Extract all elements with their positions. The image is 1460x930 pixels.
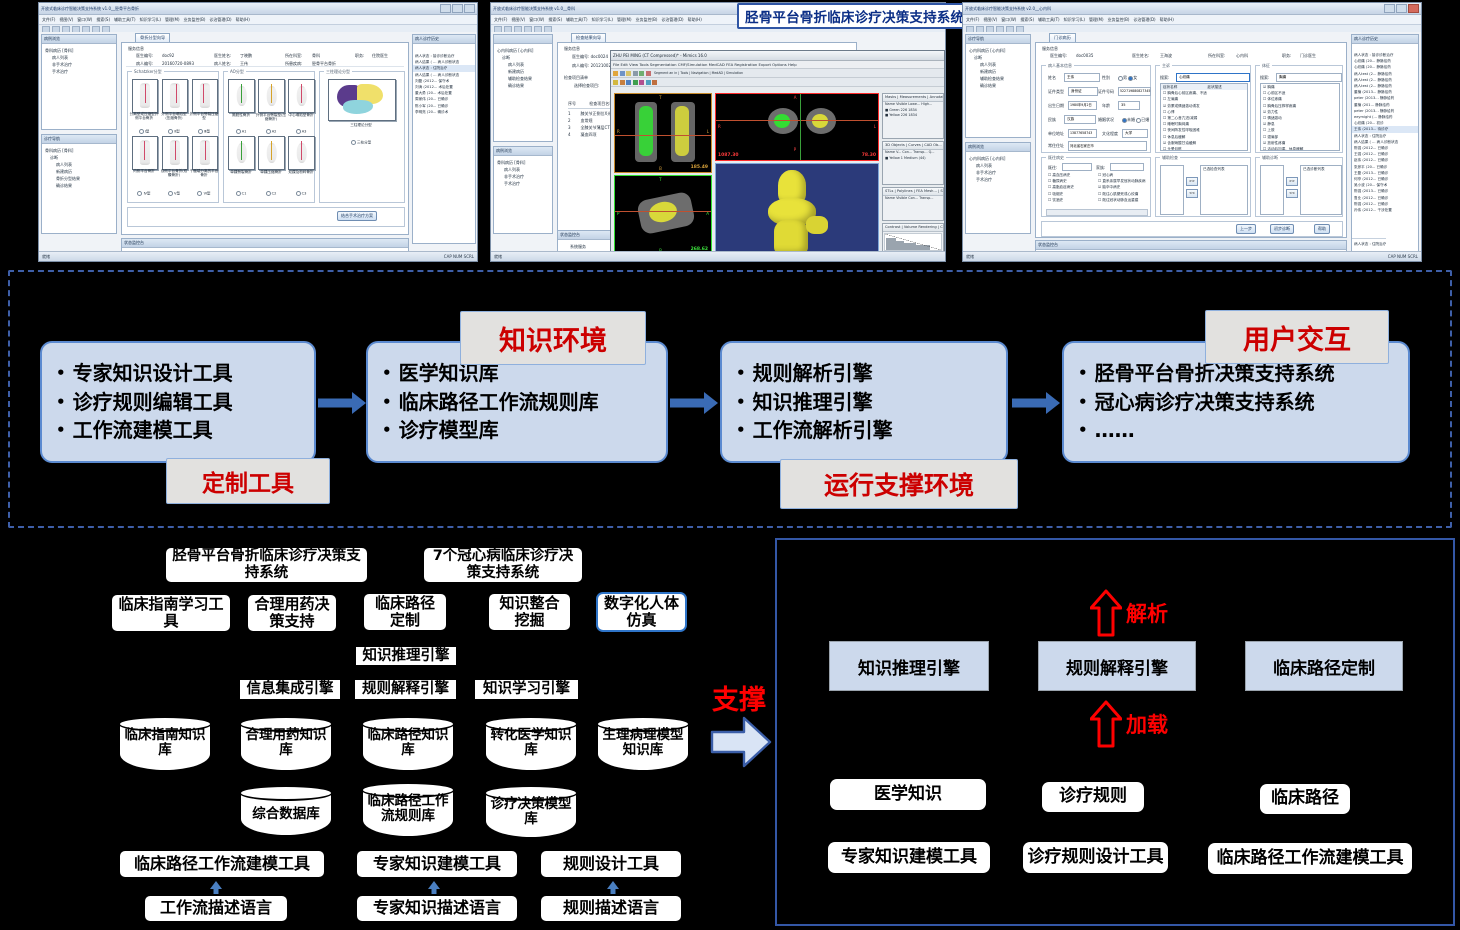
menu-item[interactable]: 辅助工具(T) (566, 17, 588, 23)
tab-fracture-classification[interactable]: 骨折分型向导 (135, 33, 170, 42)
main-title-banner: 胫骨平台骨折临床诊疗决策支持系统 (737, 3, 972, 29)
tree-node[interactable]: 非手术治疗 (494, 173, 552, 180)
db-label: 转化医学知识库 (484, 728, 578, 758)
menu-item[interactable]: 窗口(W) (529, 17, 544, 23)
radio-option[interactable]: A2 (255, 129, 287, 134)
arch-item: 诊疗模型库 (382, 416, 656, 444)
menu-item[interactable]: 视图(V) (59, 17, 73, 23)
radio-option[interactable]: C3 (285, 191, 317, 196)
id-number-input[interactable]: 522719880827345 (1118, 87, 1151, 96)
status-text: 就绪 (494, 254, 502, 259)
birthdate-input[interactable]: 1980年9月2日 (1068, 101, 1097, 110)
radio-icon[interactable] (351, 140, 356, 145)
ruler-icon[interactable] (620, 71, 625, 76)
panel-tabs[interactable]: Contrast | Volume Rendering | Clipping (883, 224, 943, 232)
radio-option[interactable]: 三柱分型 (328, 140, 394, 145)
tree-node[interactable]: 病人列表 (494, 61, 552, 68)
axial-viewport[interactable]: A R L P 1087.30 78.30 (715, 93, 879, 161)
history-row[interactable]: 李明亮 (20... 确诊术 (413, 109, 475, 115)
menu-item[interactable]: 诊治管理(D) (209, 17, 231, 23)
signs-search-input[interactable]: 胸痛 (1276, 73, 1342, 82)
list-item[interactable]: ☐ 头晕目眩 (1161, 146, 1247, 151)
radio-icon[interactable] (197, 191, 202, 196)
mask-row-yellow[interactable]: ■ Yellow 226 1834 (883, 113, 943, 119)
knowledge-box-diagnosis-rules[interactable]: 诊疗规则 (1042, 782, 1144, 812)
pointer-icon[interactable] (613, 71, 618, 76)
past-history-scrollbar[interactable] (1046, 209, 1148, 216)
tree-node[interactable]: 病人列表 (966, 61, 1030, 68)
radio-option[interactable]: A1 (225, 129, 257, 134)
radio-icon[interactable] (266, 191, 271, 196)
tree-node[interactable]: 确诊结果 (42, 182, 116, 189)
orient-L: L (874, 124, 876, 129)
modeling-tool-expert-knowledge[interactable]: 专家知识建模工具 (355, 849, 519, 879)
help-button[interactable]: 帮助 (1314, 224, 1330, 234)
fracture-thumbnail[interactable] (228, 136, 255, 170)
menu-item[interactable]: 管理(M) (165, 17, 180, 23)
id-type-input[interactable]: 身份证 (1068, 87, 1098, 96)
radio-option[interactable]: C1 (225, 191, 257, 196)
engine-knowledge-reasoning[interactable]: 知识推理引擎 (829, 641, 989, 691)
engine-box-rule-interpretation[interactable]: 规则解释引擎 (353, 678, 458, 701)
residence-label: 常住住址 (1048, 143, 1064, 149)
tool-box-knowledge-mining[interactable]: 知识整合挖掘 (487, 592, 572, 632)
menu-item[interactable]: 文件(F) (42, 17, 55, 23)
menu-item[interactable]: 业务监控(B) (1108, 17, 1130, 23)
db-physio-patho-model[interactable]: 生理病理模型知识库 (596, 716, 690, 772)
menu-item[interactable]: 知识学习(L) (592, 17, 613, 23)
group-label: Schatzker分型 (132, 69, 164, 75)
past-history-right-list[interactable]: ☐ 冠心病 ☐ 直系亲属早发冠状动脉疾病 ☑ 脑卒中病史 ☐ 既往心肌梗死或心绞… (1096, 172, 1148, 206)
menu-item[interactable]: 视图(V) (511, 17, 525, 23)
residence-input[interactable]: 河北省石家庄市 (1068, 141, 1147, 151)
marital-radios[interactable]: 未婚 已婚 (1122, 117, 1149, 123)
radio-option[interactable]: Ⅵ型 (189, 191, 219, 196)
radio-icon[interactable] (168, 129, 173, 134)
tool-box-rational-drug[interactable]: 合理用药决策支持 (246, 593, 338, 633)
arch-item: 规则解析引擎 (736, 359, 996, 387)
fracture-thumbnail[interactable] (192, 136, 218, 170)
radio-icon[interactable] (1118, 76, 1123, 81)
calc-3d-icon[interactable] (639, 80, 644, 85)
language-box-expert-knowledge[interactable]: 专家知识描述语言 (355, 894, 519, 923)
panel-tabs[interactable]: 3D Objects | Curves | CAD Ob... | Soft T… (883, 142, 943, 150)
history-footer: 病人状态 : 住院治疗 (1352, 238, 1386, 247)
case-browser-panel[interactable]: 病例浏览 骨科病历 [骨科] 病人列表 非手术治疗 手术治疗 (493, 146, 553, 234)
folder-icon[interactable] (626, 71, 631, 76)
radio-icon-selected[interactable] (1122, 118, 1127, 123)
tool-box-expert-knowledge-modeling[interactable]: 专家知识建模工具 (828, 842, 990, 873)
tree-root[interactable]: 心内科病历 [心内科] (494, 47, 552, 54)
panel-tabs[interactable]: STLs | Polylines | FEA Mesh... | Simulat… (883, 188, 943, 196)
menu-item[interactable]: 文件(F) (966, 17, 979, 23)
diagnosis-remove-button[interactable]: << (1286, 189, 1298, 198)
patient-name-input[interactable]: 王伟 (1064, 73, 1100, 82)
panel-header: 病例浏览 (966, 143, 1030, 152)
menu-item[interactable]: 搜索(S) (1020, 17, 1034, 23)
window-buttons[interactable] (440, 4, 475, 13)
radio-icon[interactable] (168, 191, 173, 196)
field-label: 医生编号: (572, 54, 589, 59)
field-label: 职务: (1282, 53, 1291, 59)
radio-option[interactable]: Ⅰ型 (128, 129, 160, 134)
panel-tabs[interactable]: Masks | Measurements | Annotations (883, 94, 943, 102)
db-clinical-pathway[interactable]: 临床路径知识库 (361, 716, 455, 772)
tree-node[interactable]: 新建病历 (966, 68, 1030, 75)
close-icon[interactable] (1408, 4, 1419, 13)
tree-node[interactable]: 病人列表 (966, 162, 1030, 169)
tree-node[interactable]: 辅助检查结果 (966, 75, 1030, 82)
radio-icon[interactable] (296, 129, 301, 134)
panel-columns: Name V... Con... Transp... Q... (883, 150, 943, 156)
exam-add-button[interactable]: >> (1186, 177, 1198, 186)
threshold-icon[interactable] (620, 80, 625, 85)
radio-option[interactable]: Ⅴ型 (159, 191, 189, 196)
panel-header (494, 35, 552, 44)
radio-option[interactable]: A3 (285, 129, 317, 134)
tree-root[interactable]: 骨科病历 [骨科] (42, 147, 116, 154)
panel-header: 状态监控台 (122, 239, 408, 248)
tree-node[interactable]: 手术治疗 (42, 68, 116, 75)
edit-mask-icon[interactable] (633, 80, 638, 85)
arch-item: 工作流解析引擎 (736, 416, 996, 444)
patient-history-panel[interactable]: 病人诊疗历史 病人状态 : 接诊诊断治疗 心绞痛 (20... 静脉给药 心绞痛… (1351, 34, 1419, 260)
panel-header: 病例浏览 (494, 147, 552, 156)
menu-item[interactable]: 视图(V) (983, 17, 997, 23)
load-label: 加载 (1126, 709, 1168, 739)
hu-max-value: 78.30 (862, 153, 876, 158)
age-input[interactable]: 35 (1118, 101, 1140, 110)
tree-root[interactable]: 骨科病历 [骨科] (494, 159, 552, 166)
3d-viewport[interactable] (715, 163, 879, 255)
arch-item: 诊疗规则编辑工具 (56, 388, 304, 416)
field-value: 心内科 (1236, 53, 1248, 59)
thumbnail-caption: 外侧平台劈裂压缩型 (189, 112, 219, 121)
menu-item[interactable]: 诊治管理(D) (661, 17, 683, 23)
tree-node[interactable]: 骨折分型结果 (42, 175, 116, 182)
window-title: 开放式临床诊疗智能决策支持系统 v2.0__心内科 (965, 6, 1051, 12)
radio-icon[interactable] (198, 129, 203, 134)
status-text: 就绪 (966, 254, 974, 259)
db-clinical-pathway-workflow-rules[interactable]: 临床路径工作流规则库 (361, 782, 455, 838)
arch-item: …… (1078, 416, 1398, 444)
system-box-coronary[interactable]: 7个冠心病临床诊疗决策支持系统 (422, 546, 584, 584)
patient-gender-radios[interactable]: 男 女 (1118, 75, 1137, 81)
menu-item[interactable]: 知识学习(L) (1064, 17, 1085, 23)
menu-item[interactable]: 搜索(S) (548, 17, 562, 23)
orient-P: P (794, 147, 796, 152)
system-box-tibial[interactable]: 胫骨平台骨折临床诊疗决策支持系统 (164, 546, 369, 584)
coronal-viewport[interactable]: T R L B 185.49 (614, 93, 712, 173)
db-clinical-guideline[interactable]: 临床指南知识库 (118, 716, 212, 772)
thumbnail-caption: 内侧平台骨折 (128, 169, 160, 173)
age-label: 年龄 (1102, 103, 1110, 109)
radio-option[interactable]: Ⅲ型 (189, 129, 219, 134)
object-row-yellow[interactable]: ■ Yellow 1 Medium (44) (883, 156, 943, 162)
menu-item[interactable]: 帮助(H) (236, 17, 250, 23)
menu-bar[interactable]: 文件(F) 视图(V) 窗口(W) 搜索(S) 辅助工具(T) 知识学习(L) … (39, 15, 477, 25)
orient-T: T (659, 177, 661, 182)
diagnosis-selected-list[interactable]: 已选诊断列表 (1300, 165, 1342, 215)
past-label: 既往: (1048, 165, 1057, 171)
fracture-thumbnail[interactable] (132, 79, 158, 113)
fracture-thumbnail[interactable] (288, 79, 315, 113)
case-browser-panel[interactable]: 病例浏览 心内科病历 [心内科] 病人列表 非手术治疗 手术治疗 (965, 142, 1031, 234)
list-item[interactable]: ☐ 活动后加重、休息缓解 (1261, 146, 1339, 151)
sagittal-viewport[interactable]: T P A B 268.62 (614, 175, 712, 255)
patient-history-panel[interactable]: 病人诊疗历史 病人状态 : 接诊诊断治疗 病人结果 ( ... 病人诊断状态 病… (412, 34, 476, 244)
menu-item[interactable]: 辅助工具(T) (114, 17, 136, 23)
masks-panel[interactable]: Masks | Measurements | Annotations Name … (882, 93, 944, 139)
crop-icon[interactable] (652, 80, 657, 85)
maximize-icon[interactable] (452, 4, 463, 13)
measure-icon[interactable] (646, 80, 651, 85)
thumbnail-caption: 分离型或压缩型外侧平台骨折 (128, 112, 160, 121)
fracture-thumbnail[interactable] (228, 79, 255, 113)
menu-item[interactable]: 知识学习(L) (140, 17, 161, 23)
tree-node[interactable]: 新建病历 (494, 68, 552, 75)
language-box-rule[interactable]: 规则描述语言 (539, 894, 683, 923)
tree-node[interactable]: 诊断 (42, 154, 116, 161)
diagnosis-navigation-panel[interactable]: 诊疗导航 骨科病历 [骨科] 诊断 病人列表 新建病历 骨折分型结果 确诊结果 (41, 134, 117, 234)
exam-selected-list[interactable]: 已选检查列表 (1200, 165, 1248, 215)
tree-node[interactable]: 诊断 (966, 54, 1030, 61)
radio-icon[interactable] (137, 191, 142, 196)
tool-box-clinical-guideline[interactable]: 临床指南学习工具 (110, 593, 232, 633)
region-grow-icon[interactable] (626, 80, 631, 85)
arch-box-runtime-support[interactable]: 规则解析引擎 知识推理引擎 工作流解析引擎 (720, 341, 1008, 463)
knowledge-box-clinical-pathway[interactable]: 临床路径 (1260, 784, 1350, 814)
field-label: 医生姓名: (1132, 53, 1149, 59)
complaint-search-input[interactable]: 心绞痛 (1176, 73, 1250, 82)
engine-rule-interpretation[interactable]: 规则解释引擎 (1038, 641, 1196, 691)
past-history-left-list[interactable]: ☐ 高血压病史 ☐ 糖尿病史 ☐ 高脂血症病史 ☐ 吸烟史 ☐ 饮酒史 (1046, 172, 1096, 206)
menu-item[interactable]: 窗口(W) (77, 17, 92, 23)
objects-panel[interactable]: 3D Objects | Curves | CAD Ob... | Soft T… (882, 141, 944, 185)
mask-icon[interactable] (613, 80, 618, 85)
menu-item[interactable]: 辅助工具(T) (1038, 17, 1060, 23)
language-box-workflow[interactable]: 工作流描述语言 (143, 894, 289, 923)
thumbnail-caption: 中心塌陷型骨折 (285, 113, 317, 117)
radio-option[interactable]: Ⅳ型 (128, 191, 160, 196)
db-comprehensive[interactable]: 综合数据库 (239, 785, 333, 837)
tree-root[interactable]: 心内科病历 [心内科] (966, 47, 1030, 54)
tool-box-clinical-pathway-custom[interactable]: 临床路径定制 (362, 592, 448, 632)
panel-header: 病例浏览 (42, 35, 116, 44)
screenshot-tibial-plateau[interactable]: 开放式临床诊疗智能决策支持系统 v1.0__胫骨平台骨折 文件(F) 视图(V)… (38, 2, 478, 262)
arch-item: 临床路径工作流规则库 (382, 388, 656, 416)
undo-icon[interactable] (639, 71, 644, 76)
address-input[interactable]: 13877658743 (1068, 129, 1097, 138)
radio-icon[interactable] (1136, 118, 1141, 123)
radio-option[interactable]: C2 (255, 191, 287, 196)
fracture-thumbnail[interactable] (258, 79, 285, 113)
previous-step-button[interactable]: 上一步 (1236, 224, 1256, 234)
radio-icon[interactable] (236, 129, 241, 134)
signs-list[interactable]: ☑ 胸痛 ☐ 心前区不适 ☐ 体位疼痛 ☐ 胸骨后压榨样疼痛 ☑ 劳力性 ☐ 情… (1260, 83, 1340, 151)
thumbnail-caption: 双踝及粉碎骨折 (285, 170, 317, 174)
orient-R: R (617, 129, 620, 134)
tree-node[interactable]: 非手术治疗 (966, 169, 1030, 176)
thumbnail-caption: 外侧平台塌陷型(压缩骨折) (159, 112, 189, 121)
db-rational-drug[interactable]: 合理用药知识库 (239, 716, 333, 772)
arch-item: 冠心病诊疗决策支持系统 (1078, 388, 1398, 416)
print-icon[interactable] (633, 71, 638, 76)
tree-node[interactable]: 病人列表 (494, 166, 552, 173)
three-column-diagram[interactable] (328, 79, 396, 121)
db-translational-medicine[interactable]: 转化医学知识库 (484, 716, 578, 772)
preliminary-diagnosis-button[interactable]: 初步诊断 (1270, 224, 1294, 234)
diagnosis-available-list[interactable] (1260, 165, 1284, 215)
tool-box-clinical-pathway-workflow-modeling[interactable]: 临床路径工作流建模工具 (1208, 843, 1412, 874)
knowledge-box-medical[interactable]: 医学知识 (830, 779, 986, 810)
db-label: 临床路径工作流规则库 (361, 794, 455, 824)
tool-box-digital-human-simulation[interactable]: 数字化人体仿真 (596, 592, 687, 632)
panel-columns: Name Visible Con... Transp... (883, 196, 943, 202)
engine-box-knowledge-learning[interactable]: 知识学习引擎 (473, 678, 580, 701)
tree-node[interactable]: 非手术治疗 (42, 61, 116, 68)
thumbnail-caption: 三柱理论分型 (328, 123, 394, 127)
signs-search-label: 搜索: (1260, 75, 1269, 81)
main-content: 服务信息 医生编号: doc0035 医生姓名: 王海波 所在科室: 心内科 职… (1035, 42, 1347, 238)
tree-node[interactable]: 病人列表 (42, 161, 116, 168)
patient-name-label: 姓名 (1048, 75, 1056, 81)
db-label: 综合数据库 (239, 807, 333, 822)
group-label: 辅助检查 (1160, 155, 1180, 161)
radio-icon-selected[interactable] (1128, 76, 1133, 81)
tree-root[interactable]: 骨科病历 [骨科] (42, 47, 116, 54)
fracture-thumbnail[interactable] (288, 136, 315, 170)
complaint-list[interactable]: 症状名称症状描述 ☐ 胸骨后心前区疼痛、不适 ☐ 左肩痛 ☑ 劳累或情绪激动诱发… (1160, 83, 1248, 151)
radio-option[interactable]: Ⅱ型 (159, 129, 189, 134)
field-value: 王海波 (1160, 53, 1172, 59)
menu-item[interactable]: 业务监控(B) (636, 17, 658, 23)
past-input[interactable] (1062, 163, 1092, 171)
tree-node[interactable]: 确诊结果 (966, 82, 1030, 89)
mimics-menu-bar[interactable]: File Edit View Tools Segmentation CMF/Si… (611, 61, 944, 69)
diagnosis-navigation-panel[interactable]: 诊疗导航 心内科病历 [心内科] 诊断 病人列表 新建病历 辅助检查结果 确诊结… (965, 34, 1031, 138)
family-input[interactable] (1110, 163, 1144, 171)
history-row[interactable]: 孙伟 (2012... 干涉处置 (1352, 207, 1418, 213)
fracture-thumbnail[interactable] (258, 136, 285, 170)
orient-T: T (659, 95, 661, 100)
db-label: 诊疗决策模型库 (484, 797, 578, 827)
menu-item[interactable]: 帮助(H) (688, 17, 702, 23)
db-diagnosis-decision-model[interactable]: 诊疗决策模型库 (484, 785, 578, 839)
surgery-plan-button[interactable]: 结合手术治疗方案 (337, 211, 377, 221)
db-label: 合理用药知识库 (239, 728, 333, 758)
list-item[interactable]: ☐ 既往冠状动脉血运重建 (1096, 197, 1148, 203)
list-item[interactable]: ☐ 饮酒史 (1046, 197, 1096, 203)
radio-icon[interactable] (296, 191, 301, 196)
db-label: 生理病理模型知识库 (596, 728, 690, 758)
group-label: 体征 (1260, 63, 1272, 69)
radio-icon[interactable] (139, 129, 144, 134)
menu-bar[interactable]: 文件(F) 视图(V) 窗口(W) 搜索(S) 辅助工具(T) 知识学习(L) … (963, 15, 1421, 25)
mimics-window[interactable]: ZHU PEI MING (CT Compressed)* - Mimics 1… (610, 50, 945, 258)
status-indicators: CAP NUM SCRL (444, 252, 474, 261)
tree-node[interactable]: 手术治疗 (494, 180, 552, 187)
menu-item[interactable]: 业务监控(B) (184, 17, 206, 23)
diagnosis-navigation-panel[interactable]: 心内科病历 [心内科] 诊断 病人列表 新建病历 辅助检查结果 确诊结果 (493, 34, 553, 142)
menu-item[interactable]: 诊治管理(D) (1133, 17, 1155, 23)
pencil-icon[interactable] (646, 71, 651, 76)
modeling-tool-clinical-pathway-workflow[interactable]: 临床路径工作流建模工具 (118, 849, 326, 879)
screenshot-coronary-heart-disease[interactable]: 开放式临床诊疗智能决策支持系统 v2.0__心内科 文件(F) 视图(V) 窗口… (962, 2, 1422, 262)
close-icon[interactable] (464, 4, 475, 13)
status-bar: 就绪 (491, 251, 945, 261)
status-text: 就绪 (42, 254, 50, 259)
ethnicity-input[interactable]: 汉族 (1064, 115, 1096, 124)
fracture-thumbnail[interactable] (132, 136, 158, 170)
diagnosis-add-button[interactable]: >> (1286, 177, 1298, 186)
engine-clinical-pathway-custom[interactable]: 临床路径定制 (1245, 641, 1403, 691)
tab-exam-result[interactable]: 检查结果向导 (571, 33, 606, 42)
slice-value: 185.49 (691, 165, 708, 170)
window-title: 开放式临床诊疗智能决策支持系统 v1.0__骨科 (493, 6, 575, 12)
menu-item[interactable]: 帮助(H) (1160, 17, 1174, 23)
orient-A: A (794, 95, 797, 100)
fracture-thumbnail[interactable] (192, 79, 218, 113)
exam-available-list[interactable] (1160, 165, 1184, 215)
screenshot-mimics-3d[interactable]: 开放式临床诊疗智能决策支持系统 v1.0__骨科 文件(F) 视图(V) 窗口(… (490, 2, 946, 262)
tree-node[interactable]: 确诊结果 (494, 82, 552, 89)
window-buttons[interactable] (1384, 4, 1419, 13)
menu-item[interactable]: 管理(M) (1089, 17, 1104, 23)
tree-node[interactable]: 诊断 (494, 54, 552, 61)
menu-item[interactable]: 文件(F) (494, 17, 507, 23)
menu-item[interactable]: 窗口(W) (1001, 17, 1016, 23)
radio-icon[interactable] (236, 191, 241, 196)
id-number-label: 证件号码 (1098, 89, 1114, 95)
engine-box-knowledge-reasoning[interactable]: 知识推理引擎 (354, 645, 458, 667)
menu-item[interactable]: 管理(M) (617, 17, 632, 23)
menu-item[interactable]: 搜索(S) (96, 17, 110, 23)
arch-item: 工作流建模工具 (56, 416, 304, 444)
list-header: 已选检查列表 (1201, 166, 1247, 172)
id-type-label: 证件类型 (1048, 89, 1064, 95)
tree-node[interactable]: 新建病历 (42, 168, 116, 175)
case-browser-panel[interactable]: 病例浏览 骨科病历 [骨科] 病人列表 非手术治疗 手术治疗 (41, 34, 117, 130)
tree-node[interactable]: 病人列表 (42, 54, 116, 61)
tool-box-diagnosis-rule-design[interactable]: 诊疗规则设计工具 (1023, 842, 1168, 873)
fracture-thumbnail[interactable] (162, 136, 188, 170)
maximize-icon[interactable] (1396, 4, 1407, 13)
fracture-thumbnail[interactable] (162, 79, 188, 113)
tab-outpatient-record[interactable]: 门诊病历 (1049, 33, 1076, 42)
action-area (1041, 221, 1343, 237)
group-label: 三柱理论分型 (324, 69, 352, 75)
education-input[interactable]: 大学 (1122, 129, 1148, 138)
panel-header: 状态监控台 (1036, 241, 1346, 250)
tree-root[interactable]: 心内科病历 [心内科] (966, 155, 1030, 162)
minimize-icon[interactable] (1384, 4, 1395, 13)
mimics-toolbar[interactable]: Segment an in | Tools | Navigation | Med… (611, 69, 944, 78)
stl-panel[interactable]: STLs | Polylines | FEA Mesh... | Simulat… (882, 187, 944, 221)
arch-box-customization-tools[interactable]: 专家知识设计工具 诊疗规则编辑工具 工作流建模工具 (40, 341, 316, 463)
minimize-icon[interactable] (440, 4, 451, 13)
address-label: 单位地址 (1048, 131, 1064, 137)
mimics-toolbar-2[interactable] (611, 78, 944, 87)
engine-box-info-integration[interactable]: 信息集成引擎 (238, 678, 342, 701)
radio-icon[interactable] (266, 129, 271, 134)
modeling-tool-rule-design[interactable]: 规则设计工具 (539, 849, 683, 879)
tree-node[interactable]: 手术治疗 (966, 176, 1030, 183)
exam-remove-button[interactable]: << (1186, 189, 1198, 198)
complaint-search-label: 搜索: (1160, 75, 1169, 81)
tree-node[interactable]: 辅助检查结果 (494, 75, 552, 82)
parse-label: 解析 (1126, 598, 1168, 628)
